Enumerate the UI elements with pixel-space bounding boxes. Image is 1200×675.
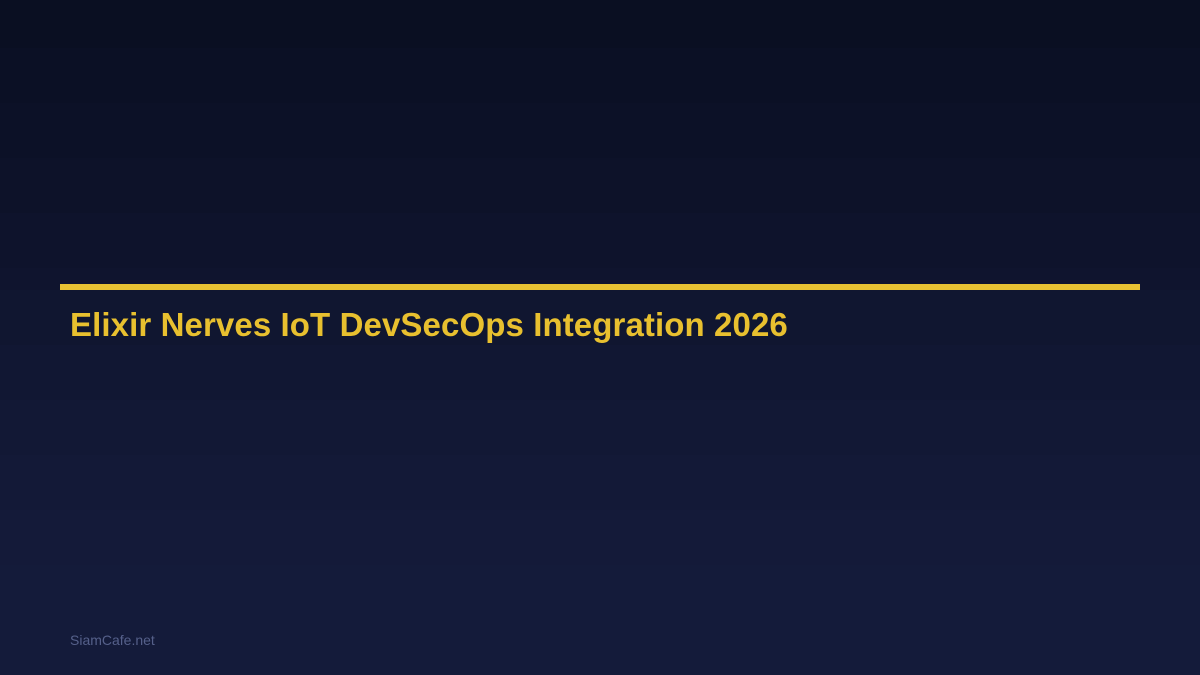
title-accent-bar [60, 284, 1140, 290]
footer-brand-label: SiamCafe.net [70, 631, 155, 649]
page-title: Elixir Nerves IoT DevSecOps Integration … [70, 305, 788, 345]
presentation-slide: Elixir Nerves IoT DevSecOps Integration … [0, 0, 1200, 675]
